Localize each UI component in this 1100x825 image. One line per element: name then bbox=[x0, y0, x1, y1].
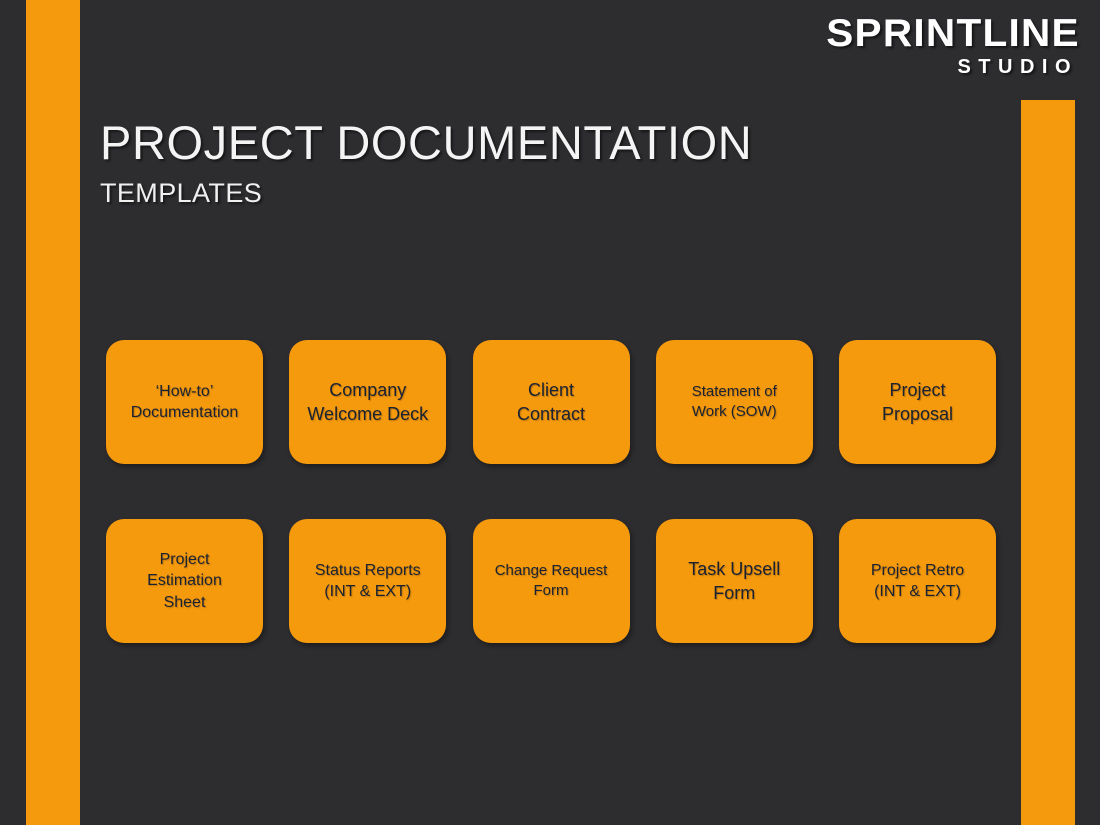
brand-logo-secondary: STUDIO bbox=[836, 57, 1080, 77]
template-card[interactable]: Company Welcome Deck bbox=[289, 340, 446, 464]
template-card-label: Status Reports (INT & EXT) bbox=[315, 560, 421, 603]
template-card-label: Change Request Form bbox=[495, 561, 608, 601]
template-card-grid: ‘How-to’ Documentation Company Welcome D… bbox=[106, 340, 996, 643]
template-card[interactable]: Task Upsell Form bbox=[656, 519, 813, 643]
template-card[interactable]: Client Contract bbox=[473, 340, 630, 464]
template-card-label: Task Upsell Form bbox=[688, 557, 780, 605]
template-card[interactable]: Status Reports (INT & EXT) bbox=[289, 519, 446, 643]
card-row-2: Project Estimation Sheet Status Reports … bbox=[106, 519, 996, 643]
template-card[interactable]: Statement of Work (SOW) bbox=[656, 340, 813, 464]
template-card-label: Project Proposal bbox=[882, 378, 953, 426]
template-card[interactable]: Project Estimation Sheet bbox=[106, 519, 263, 643]
template-card[interactable]: Project Retro (INT & EXT) bbox=[839, 519, 996, 643]
template-card-label: ‘How-to’ Documentation bbox=[131, 381, 239, 424]
heading-block: PROJECT DOCUMENTATION TEMPLATES bbox=[100, 118, 752, 209]
template-card[interactable]: Change Request Form bbox=[473, 519, 630, 643]
template-card-label: Company Welcome Deck bbox=[307, 378, 428, 426]
template-card[interactable]: ‘How-to’ Documentation bbox=[106, 340, 263, 464]
template-card[interactable]: Project Proposal bbox=[839, 340, 996, 464]
brand-logo-primary: SPRINTLINE bbox=[826, 14, 1080, 53]
right-accent-bar bbox=[1021, 100, 1075, 825]
card-row-1: ‘How-to’ Documentation Company Welcome D… bbox=[106, 340, 996, 464]
brand-logo: SPRINTLINE STUDIO bbox=[836, 14, 1080, 77]
left-accent-bar bbox=[26, 0, 80, 825]
template-card-label: Project Retro (INT & EXT) bbox=[871, 560, 964, 603]
page-subtitle: TEMPLATES bbox=[100, 178, 752, 209]
template-card-label: Client Contract bbox=[517, 378, 585, 426]
page-title: PROJECT DOCUMENTATION bbox=[100, 118, 752, 169]
slide-canvas: SPRINTLINE STUDIO PROJECT DOCUMENTATION … bbox=[0, 0, 1100, 825]
template-card-label: Statement of Work (SOW) bbox=[692, 382, 777, 422]
template-card-label: Project Estimation Sheet bbox=[147, 549, 222, 613]
